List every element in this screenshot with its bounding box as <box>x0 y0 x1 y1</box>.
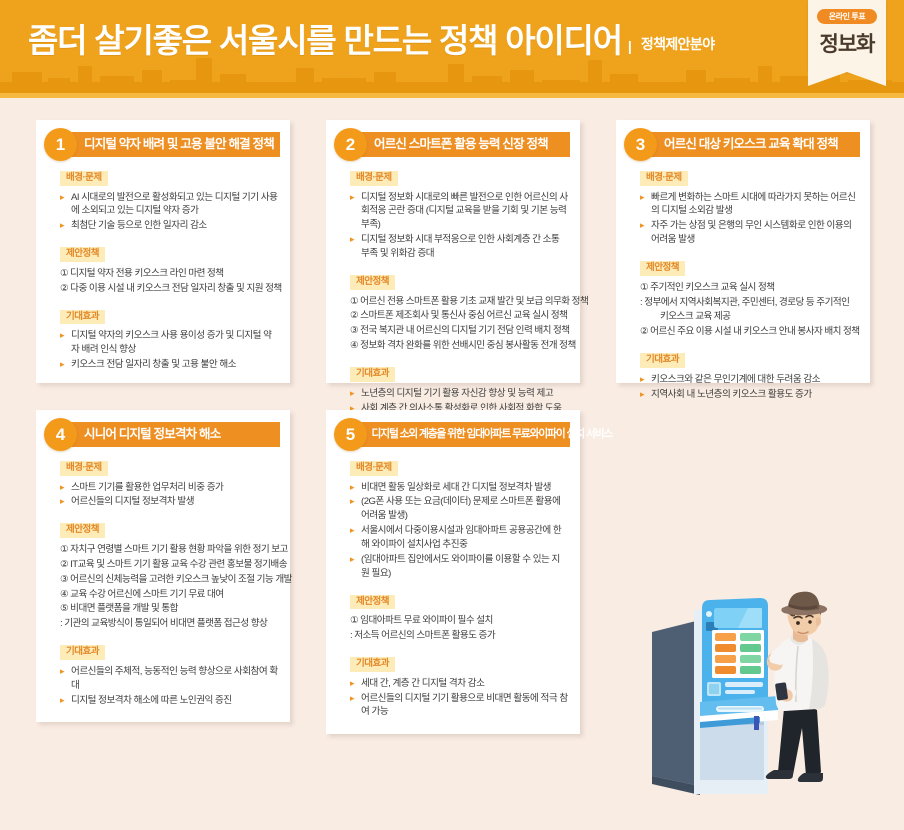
card-4-body: 배경·문제 스마트 기기를 활용한 업무처리 비중 증가 어르신들의 디지털 정… <box>36 447 290 722</box>
card-4-policy-list: ① 자치구 연령별 스마트 기기 활용 현황 파악을 위한 정기 보고 ② IT… <box>60 543 278 631</box>
list-item: 세대 간, 계층 간 디지털 격차 감소 <box>350 677 568 691</box>
list-item: ② 어르신 주요 이용 시설 내 키오스크 안내 봉사자 배치 정책 <box>640 325 858 339</box>
card-5-background-section: 배경·문제 비대면 활동 일상화로 세대 간 디지털 정보격차 발생 (2G폰 … <box>350 457 568 581</box>
list-item: ② 스마트폰 제조회사 및 통신사 중심 어르신 교육 실시 정책 <box>350 309 568 323</box>
list-item: 스마트 기기를 활용한 업무처리 비중 증가 <box>60 481 278 495</box>
card-1-effect-section: 기대효과 디지털 약자의 키오스크 사용 용이성 증가 및 디지털 약자 배려 … <box>60 306 278 372</box>
list-item: AI 시대로의 발전으로 활성화되고 있는 디지털 기기 사용에 소외되고 있는… <box>60 191 278 219</box>
card-5-body: 배경·문제 비대면 활동 일상화로 세대 간 디지털 정보격차 발생 (2G폰 … <box>326 447 580 734</box>
card-5-title: 디지털 소외 계층을 위한 임대아파트 무료와이파이 설치 서비스 <box>354 429 612 440</box>
card-3-effect-section: 기대효과 키오스크와 같은 무인기계에 대한 두려움 감소 지역사회 내 노년층… <box>640 349 858 401</box>
card-2-header: 2 어르신 스마트폰 활용 능력 신장 정책 <box>354 132 570 157</box>
card-1-body: 배경·문제 AI 시대로의 발전으로 활성화되고 있는 디지털 기기 사용에 소… <box>36 157 290 387</box>
card-4-effect-list: 어르신들의 주체적, 능동적인 능력 향상으로 사회참여 확대 디지털 정보격차… <box>60 665 278 708</box>
ribbon-category-label: 정보화 <box>808 28 886 58</box>
list-item-sub: : 저소득 어르신의 스마트폰 활용도 증가 <box>350 629 568 643</box>
list-item: 최첨단 기술 등으로 인한 일자리 감소 <box>60 219 278 233</box>
card-2-effect-section: 기대효과 노년층의 디지털 기기 활용 자신감 향상 및 능력 제고 사회 계층… <box>350 363 568 415</box>
card-5-header: 5 디지털 소외 계층을 위한 임대아파트 무료와이파이 설치 서비스 <box>354 422 570 447</box>
list-item: 디지털 정보화 시대 부적응으로 인한 사회계층 간 소통 부족 및 위화감 증… <box>350 233 568 261</box>
card-1-background-list: AI 시대로의 발전으로 활성화되고 있는 디지털 기기 사용에 소외되고 있는… <box>60 191 278 234</box>
section-label-policy: 제안정책 <box>640 261 685 276</box>
list-item-continuation: (임대아파트 집안에서도 와이파이를 이용할 수 있는 지원 필요) <box>350 553 568 581</box>
list-item: 어르신들의 디지털 기기 활용으로 비대면 활동에 적극 참여 가능 <box>350 692 568 720</box>
card-3-body: 배경·문제 빠르게 변화하는 스마트 시대에 따라가지 못하는 어르신의 디지털… <box>616 157 870 417</box>
card-4-title: 시니어 디지털 정보격차 해소 <box>64 428 220 441</box>
card-2-policy-section: 제안정책 ① 어르신 전용 스마트폰 활용 기초 교재 발간 및 보급 의무화 … <box>350 271 568 353</box>
list-item: ① 자치구 연령별 스마트 기기 활용 현황 파악을 위한 정기 보고 <box>60 543 278 557</box>
card-4-effect-section: 기대효과 어르신들의 주체적, 능동적인 능력 향상으로 사회참여 확대 디지털… <box>60 641 278 707</box>
list-item: 서울시에서 다중이용시설과 임대아파트 공용공간에 한해 와이파이 설치사업 추… <box>350 524 568 552</box>
ribbon-notch <box>808 72 886 86</box>
list-item-continuation: (2G폰 사용 또는 요금(데이터) 문제로 스마트폰 활용에 어려움 발생) <box>350 495 568 523</box>
list-item: ③ 전국 복지관 내 어르신의 디지털 기기 전담 인력 배치 정책 <box>350 324 568 338</box>
policy-card-5: 5 디지털 소외 계층을 위한 임대아파트 무료와이파이 설치 서비스 배경·문… <box>326 410 580 734</box>
card-1-policy-list: ① 디지털 약자 전용 키오스크 라인 마련 정책 ② 다중 이용 시설 내 키… <box>60 267 278 296</box>
list-item: 비대면 활동 일상화로 세대 간 디지털 정보격차 발생 <box>350 481 568 495</box>
section-label-effect: 기대효과 <box>350 657 395 672</box>
page-header: 좀더 살기좋은 서울시를 만드는 정책 아이디어 | 정책제안분야 온라인 투표… <box>0 0 904 98</box>
page-subtitle: 정책제안분야 <box>641 34 715 57</box>
list-item: 빠르게 변화하는 스마트 시대에 따라가지 못하는 어르신의 디지털 소외감 발… <box>640 191 858 219</box>
list-item-sub: : 기관의 교육방식이 통일되어 비대면 플랫폼 접근성 향상 <box>60 617 278 631</box>
section-label-policy: 제안정책 <box>350 595 395 610</box>
list-item: ① 디지털 약자 전용 키오스크 라인 마련 정책 <box>60 267 278 281</box>
list-item: ② IT교육 및 스마트 기기 활용 교육 수강 관련 홍보물 정기배송 <box>60 558 278 572</box>
list-item: ① 주기적인 키오스크 교육 실시 정책 <box>640 281 858 295</box>
card-4-background-section: 배경·문제 스마트 기기를 활용한 업무처리 비중 증가 어르신들의 디지털 정… <box>60 457 278 509</box>
list-item: ① 임대아파트 무료 와이파이 필수 설치 <box>350 614 568 628</box>
card-2-background-list: 디지털 정보화 시대로의 빠른 발전으로 인한 어르신의 사회적응 곤란 증대 … <box>350 191 568 262</box>
section-label-policy: 제안정책 <box>60 523 105 538</box>
list-item: 자주 가는 상점 및 은행의 무인 시스템화로 인한 이용의 어려움 발생 <box>640 219 858 247</box>
card-3-policy-section: 제안정책 ① 주기적인 키오스크 교육 실시 정책 : 정부에서 지역사회복지관… <box>640 257 858 339</box>
card-5-effect-section: 기대효과 세대 간, 계층 간 디지털 격차 감소 어르신들의 디지털 기기 활… <box>350 653 568 719</box>
list-item: 키오스크와 같은 무인기계에 대한 두려움 감소 <box>640 373 858 387</box>
card-4-policy-section: 제안정책 ① 자치구 연령별 스마트 기기 활용 현황 파악을 위한 정기 보고… <box>60 519 278 631</box>
list-item-sub: : 정부에서 지역사회복지관, 주민센터, 경로당 등 주기적인 <box>640 296 858 310</box>
policy-card-board: 1 디지털 약자 배려 및 고용 불안 해결 정책 배경·문제 AI 시대로의 … <box>0 98 904 735</box>
online-vote-pill: 온라인 투표 <box>817 9 877 24</box>
list-item: 디지털 정보격차 해소에 따른 노인권익 증진 <box>60 694 278 708</box>
list-item: ④ 정보화 격차 완화를 위한 선배시민 중심 봉사활동 전개 정책 <box>350 339 568 353</box>
section-label-effect: 기대효과 <box>640 353 685 368</box>
section-label-background: 배경·문제 <box>350 461 398 476</box>
list-item: ③ 어르신의 신체능력을 고려한 키오스크 높낮이 조절 기능 개발 <box>60 573 278 587</box>
list-item: ① 어르신 전용 스마트폰 활용 기초 교재 발간 및 보급 의무화 정책 <box>350 295 568 309</box>
card-2-background-section: 배경·문제 디지털 정보화 시대로의 빠른 발전으로 인한 어르신의 사회적응 … <box>350 167 568 261</box>
section-label-policy: 제안정책 <box>60 247 105 262</box>
card-4-background-list: 스마트 기기를 활용한 업무처리 비중 증가 어르신들의 디지털 정보격차 발생 <box>60 481 278 510</box>
card-1-header: 1 디지털 약자 배려 및 고용 불안 해결 정책 <box>64 132 280 157</box>
list-item: 노년층의 디지털 기기 활용 자신감 향상 및 능력 제고 <box>350 387 568 401</box>
card-2-body: 배경·문제 디지털 정보화 시대로의 빠른 발전으로 인한 어르신의 사회적응 … <box>326 157 580 430</box>
list-item: ⑤ 비대면 플랫폼을 개발 및 통합 <box>60 602 278 616</box>
card-4-number-badge: 4 <box>44 418 77 451</box>
card-5-background-list: 비대면 활동 일상화로 세대 간 디지털 정보격차 발생 (2G폰 사용 또는 … <box>350 481 568 581</box>
card-3-policy-list: ① 주기적인 키오스크 교육 실시 정책 : 정부에서 지역사회복지관, 주민센… <box>640 281 858 340</box>
elderly-man-at-kiosk-illustration <box>608 590 904 830</box>
card-3-background-section: 배경·문제 빠르게 변화하는 스마트 시대에 따라가지 못하는 어르신의 디지털… <box>640 167 858 247</box>
card-2-title: 어르신 스마트폰 활용 능력 신장 정책 <box>354 138 548 151</box>
card-2-number-badge: 2 <box>334 128 367 161</box>
title-separator: | <box>628 38 632 57</box>
card-2-policy-list: ① 어르신 전용 스마트폰 활용 기초 교재 발간 및 보급 의무화 정책 ② … <box>350 295 568 354</box>
section-label-background: 배경·문제 <box>350 171 398 186</box>
policy-card-1: 1 디지털 약자 배려 및 고용 불안 해결 정책 배경·문제 AI 시대로의 … <box>36 120 290 383</box>
list-item: 키오스크 전담 일자리 창출 및 고용 불안 해소 <box>60 358 278 372</box>
list-item: 어르신들의 디지털 정보격차 발생 <box>60 495 278 509</box>
card-3-background-list: 빠르게 변화하는 스마트 시대에 따라가지 못하는 어르신의 디지털 소외감 발… <box>640 191 858 248</box>
list-item-sub: 키오스크 교육 제공 <box>640 310 858 324</box>
card-1-policy-section: 제안정책 ① 디지털 약자 전용 키오스크 라인 마련 정책 ② 다중 이용 시… <box>60 243 278 295</box>
section-label-background: 배경·문제 <box>60 461 108 476</box>
policy-card-2: 2 어르신 스마트폰 활용 능력 신장 정책 배경·문제 디지털 정보화 시대로… <box>326 120 580 383</box>
policy-card-4: 4 시니어 디지털 정보격차 해소 배경·문제 스마트 기기를 활용한 업무처리… <box>36 410 290 722</box>
card-5-policy-section: 제안정책 ① 임대아파트 무료 와이파이 필수 설치 : 저소득 어르신의 스마… <box>350 591 568 643</box>
card-1-background-section: 배경·문제 AI 시대로의 발전으로 활성화되고 있는 디지털 기기 사용에 소… <box>60 167 278 233</box>
card-4-header: 4 시니어 디지털 정보격차 해소 <box>64 422 280 447</box>
page-title: 좀더 살기좋은 서울시를 만드는 정책 아이디어 <box>28 24 622 57</box>
card-3-header: 3 어르신 대상 키오스크 교육 확대 정책 <box>644 132 860 157</box>
policy-card-3: 3 어르신 대상 키오스크 교육 확대 정책 배경·문제 빠르게 변화하는 스마… <box>616 120 870 383</box>
section-label-background: 배경·문제 <box>640 171 688 186</box>
card-1-number-badge: 1 <box>44 128 77 161</box>
section-label-background: 배경·문제 <box>60 171 108 186</box>
card-1-title: 디지털 약자 배려 및 고용 불안 해결 정책 <box>64 138 274 151</box>
section-label-effect: 기대효과 <box>60 645 105 660</box>
category-ribbon-badge: 온라인 투표 정보화 <box>808 0 886 86</box>
list-item: 지역사회 내 노년층의 키오스크 활용도 증가 <box>640 388 858 402</box>
card-3-title: 어르신 대상 키오스크 교육 확대 정책 <box>644 138 838 151</box>
list-item: ④ 교육 수강 어르신에 스마트 기기 무료 대여 <box>60 588 278 602</box>
section-label-effect: 기대효과 <box>60 310 105 325</box>
list-item: 어르신들의 주체적, 능동적인 능력 향상으로 사회참여 확대 <box>60 665 278 693</box>
section-label-policy: 제안정책 <box>350 275 395 290</box>
section-label-effect: 기대효과 <box>350 367 395 382</box>
card-3-effect-list: 키오스크와 같은 무인기계에 대한 두려움 감소 지역사회 내 노년층의 키오스… <box>640 373 858 402</box>
card-5-effect-list: 세대 간, 계층 간 디지털 격차 감소 어르신들의 디지털 기기 활용으로 비… <box>350 677 568 720</box>
card-3-number-badge: 3 <box>624 128 657 161</box>
header-title-group: 좀더 살기좋은 서울시를 만드는 정책 아이디어 | 정책제안분야 <box>28 24 715 57</box>
card-5-policy-list: ① 임대아파트 무료 와이파이 필수 설치 : 저소득 어르신의 스마트폰 활용… <box>350 614 568 643</box>
list-item: 디지털 정보화 시대로의 빠른 발전으로 인한 어르신의 사회적응 곤란 증대 … <box>350 191 568 233</box>
list-item: ② 다중 이용 시설 내 키오스크 전담 일자리 창출 및 지원 정책 <box>60 282 278 296</box>
card-1-effect-list: 디지털 약자의 키오스크 사용 용이성 증가 및 디지털 약자 배려 인식 향상… <box>60 329 278 372</box>
list-item: 디지털 약자의 키오스크 사용 용이성 증가 및 디지털 약자 배려 인식 향상 <box>60 329 278 357</box>
